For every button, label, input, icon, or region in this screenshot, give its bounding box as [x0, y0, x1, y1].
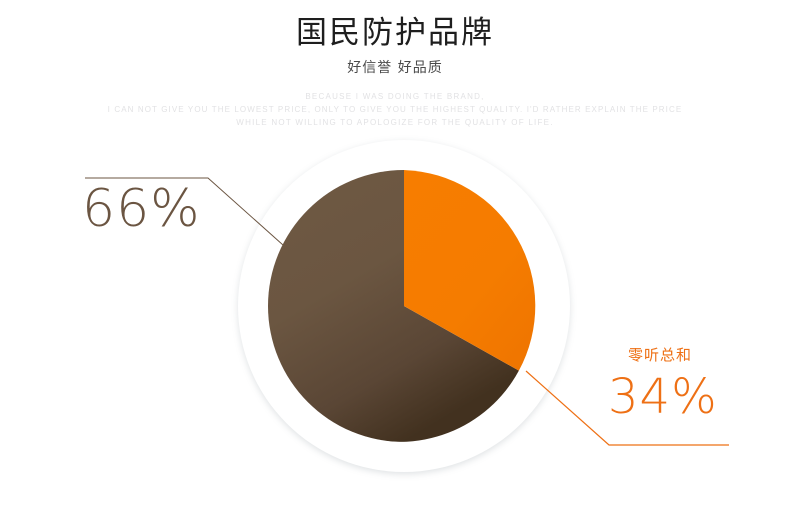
- pie-chart: [238, 140, 570, 472]
- callout-caption-right: 零听总和: [628, 345, 692, 365]
- callout-value-left: 66%: [82, 181, 201, 237]
- page-canvas: 国民防护品牌 好信誉 好品质 Because I was doing the b…: [0, 0, 790, 512]
- english-tagline-line-2: I can not give you the lowest price, onl…: [0, 103, 790, 116]
- pie-slices-container: [268, 170, 540, 442]
- page-subtitle: 好信誉 好品质: [0, 52, 790, 77]
- english-tagline-line-1: Because I was doing the brand,: [0, 90, 790, 103]
- page-title: 国民防护品牌: [0, 0, 790, 52]
- callout-value-right: 34%: [608, 371, 718, 423]
- header: 国民防护品牌 好信誉 好品质: [0, 0, 790, 77]
- pie-svg: [268, 170, 540, 442]
- english-tagline-line-3: while not willing to apologize for the q…: [0, 116, 790, 129]
- english-tagline-block: Because I was doing the brand, I can not…: [0, 90, 790, 129]
